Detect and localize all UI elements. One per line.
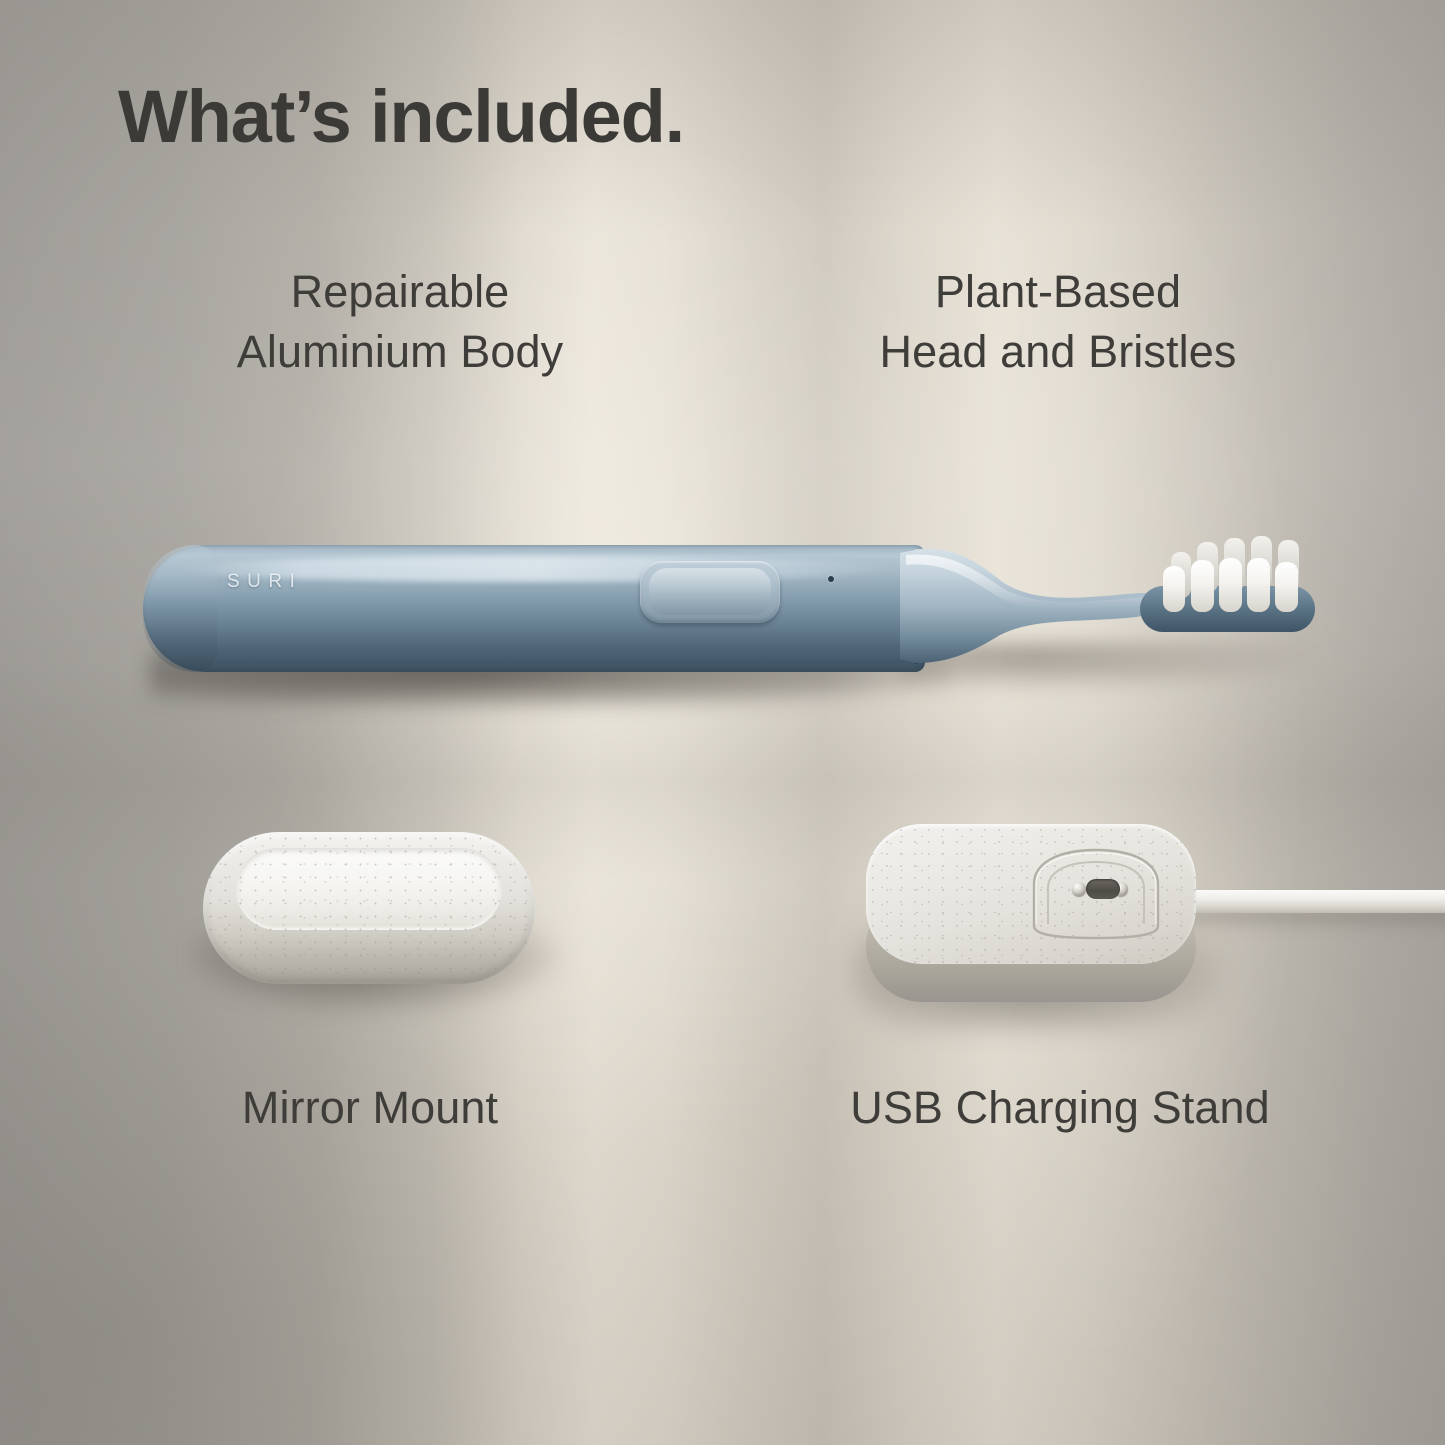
charging-contact-pin-left: [1072, 882, 1086, 896]
charging-cable-shadow: [1165, 910, 1445, 932]
product-infographic: What’s included. Repairable Aluminium Bo…: [0, 0, 1445, 1445]
handle-end-cap: [143, 545, 217, 672]
status-led-indicator: [828, 576, 834, 582]
electric-toothbrush: SURI: [0, 0, 1445, 1445]
mirror-mount-speckle-texture: [203, 832, 535, 984]
charging-alignment-slot: [1086, 879, 1120, 899]
power-button-inner-face: [649, 568, 771, 615]
caption-mirror-mount: Mirror Mount: [130, 1078, 610, 1138]
brush-bristles: [1145, 530, 1330, 640]
suri-brand-logo: SURI: [227, 571, 302, 593]
charging-cable: [1160, 890, 1445, 913]
caption-usb-charging-stand: USB Charging Stand: [720, 1078, 1400, 1138]
